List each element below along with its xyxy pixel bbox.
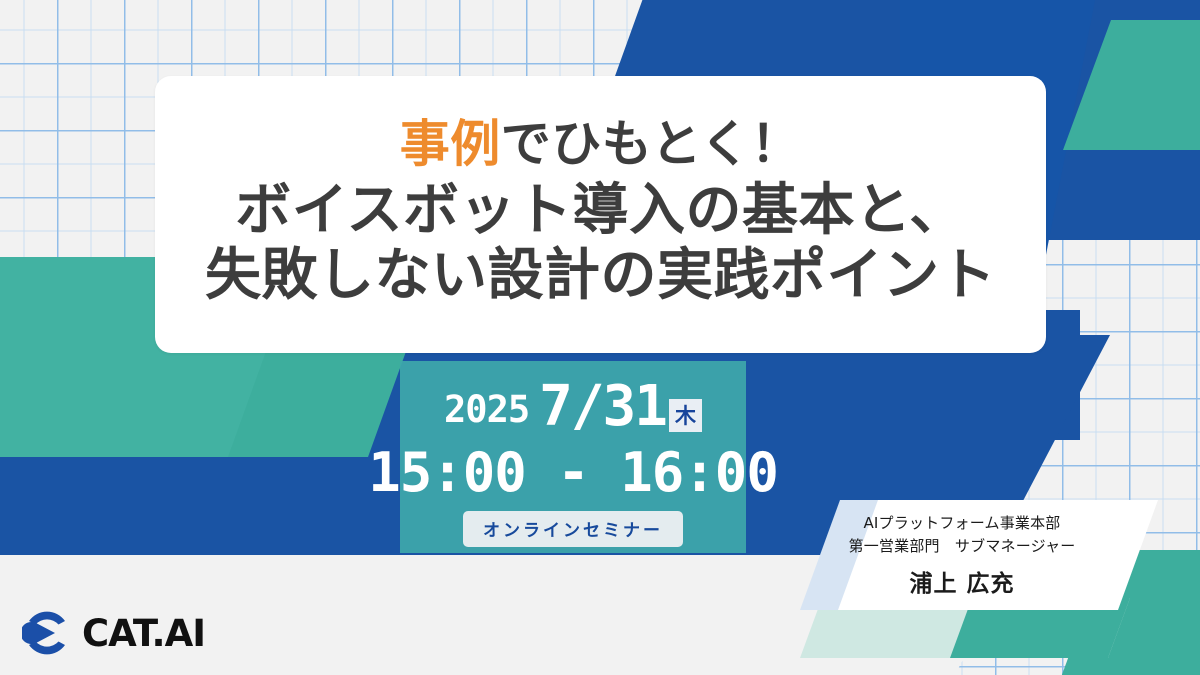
title-line-1-rest: でひもとく！ — [501, 115, 802, 173]
event-month-day: 7/31 — [539, 374, 666, 439]
title-line-1: 事例でひもとく！ — [400, 114, 802, 175]
speaker-name: 浦上 広充 — [812, 564, 1112, 598]
cat-ai-circle-mark-icon — [22, 608, 72, 658]
event-format-badge: オンラインセミナー — [463, 511, 683, 547]
title-line-3: 失敗しない設計の実践ポイント — [205, 244, 996, 309]
speaker-department-line-2: 第一営業部門 サブマネージャー — [812, 535, 1112, 558]
event-time: 15:00 - 16:00 — [368, 441, 778, 504]
seminar-banner: 事例でひもとく！ ボイスボット導入の基本と、 失敗しない設計の実践ポイント 20… — [0, 0, 1200, 675]
speaker-block: AIプラットフォーム事業本部 第一営業部門 サブマネージャー 浦上 広充 — [812, 512, 1112, 598]
title-line-2: ボイスボット導入の基本と、 — [235, 179, 966, 244]
event-day-of-week-badge: 木 — [669, 399, 702, 432]
event-date-row: 2025 7/31 木 — [444, 374, 702, 439]
event-year: 2025 — [444, 388, 529, 431]
brand-logo: CAT.AI — [22, 608, 205, 658]
event-date-panel: 2025 7/31 木 15:00 - 16:00 オンラインセミナー — [400, 361, 746, 553]
title-accent-text: 事例 — [400, 115, 501, 173]
brand-logo-text: CAT.AI — [82, 612, 205, 655]
speaker-department-line-1: AIプラットフォーム事業本部 — [812, 512, 1112, 535]
title-card: 事例でひもとく！ ボイスボット導入の基本と、 失敗しない設計の実践ポイント — [155, 76, 1046, 353]
